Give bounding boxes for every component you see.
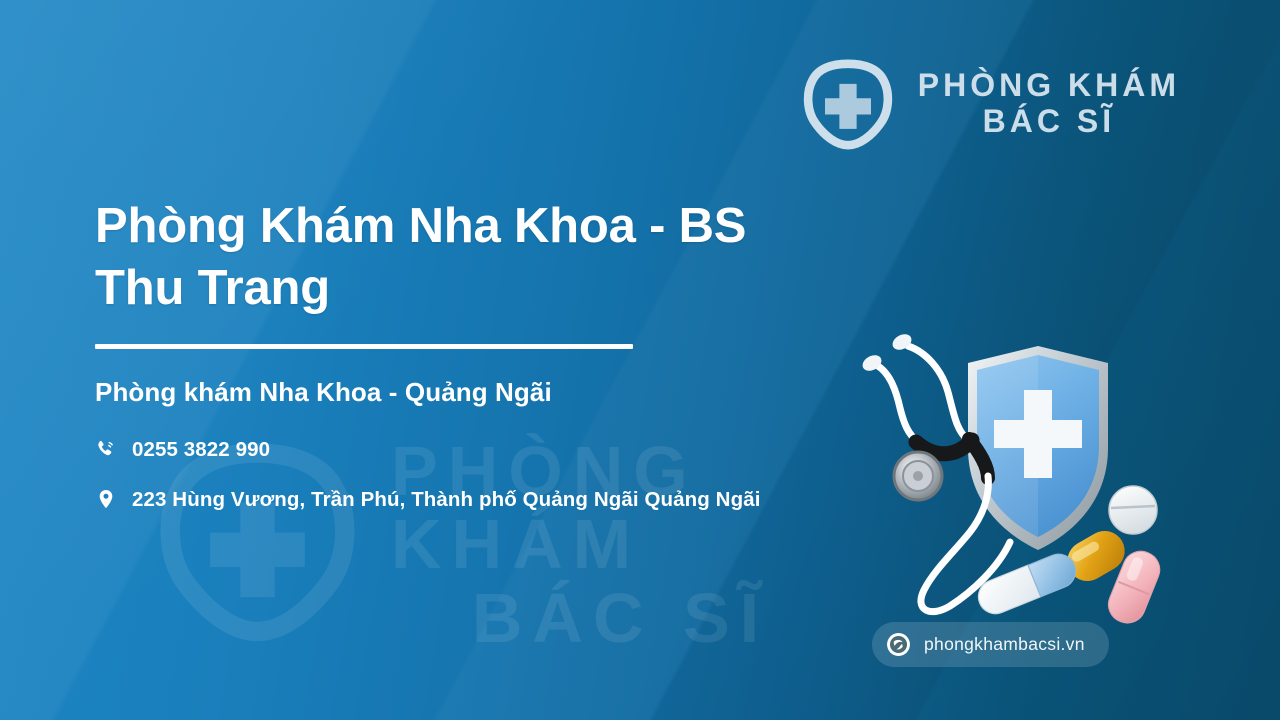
website-badge[interactable]: phongkhambacsi.vn	[872, 622, 1109, 667]
phone-call-icon	[95, 436, 117, 462]
clinic-info: Phòng Khám Nha Khoa - BS Thu Trang Phòng…	[95, 196, 795, 534]
contact-phone-row[interactable]: 0255 3822 990	[95, 435, 795, 464]
brand-logo-line1: PHÒNG KHÁM	[918, 68, 1180, 104]
white-round-tablet	[1109, 486, 1157, 534]
brand-logo: PHÒNG KHÁM BÁC SĨ	[800, 58, 1180, 150]
clinic-banner: PHÒNG KHÁM BÁC SĨ PHÒNG KHÁM BÁC SĨ Phòn…	[0, 0, 1280, 720]
contact-list: 0255 3822 990 223 Hùng Vương, Trần Phú, …	[95, 435, 795, 513]
medical-illustration	[838, 318, 1190, 624]
watermark-line2: BÁC SĨ	[472, 582, 769, 656]
website-url-text: phongkhambacsi.vn	[924, 634, 1085, 655]
medical-cross-emblem-icon	[800, 58, 896, 150]
brand-logo-text: PHÒNG KHÁM BÁC SĨ	[918, 68, 1180, 140]
blue-white-capsule	[973, 549, 1080, 619]
title-divider	[95, 344, 633, 349]
contact-address-text: 223 Hùng Vương, Trần Phú, Thành phố Quản…	[132, 485, 761, 514]
globe-icon	[886, 632, 911, 657]
contact-phone-text: 0255 3822 990	[132, 435, 270, 464]
map-pin-icon	[95, 486, 117, 512]
brand-logo-line2: BÁC SĨ	[983, 104, 1115, 140]
clinic-subtitle: Phòng khám Nha Khoa - Quảng Ngãi	[95, 377, 795, 408]
contact-address-row[interactable]: 223 Hùng Vương, Trần Phú, Thành phố Quản…	[95, 485, 795, 514]
shield-with-medical-cross	[968, 346, 1108, 550]
clinic-title: Phòng Khám Nha Khoa - BS Thu Trang	[95, 196, 795, 319]
